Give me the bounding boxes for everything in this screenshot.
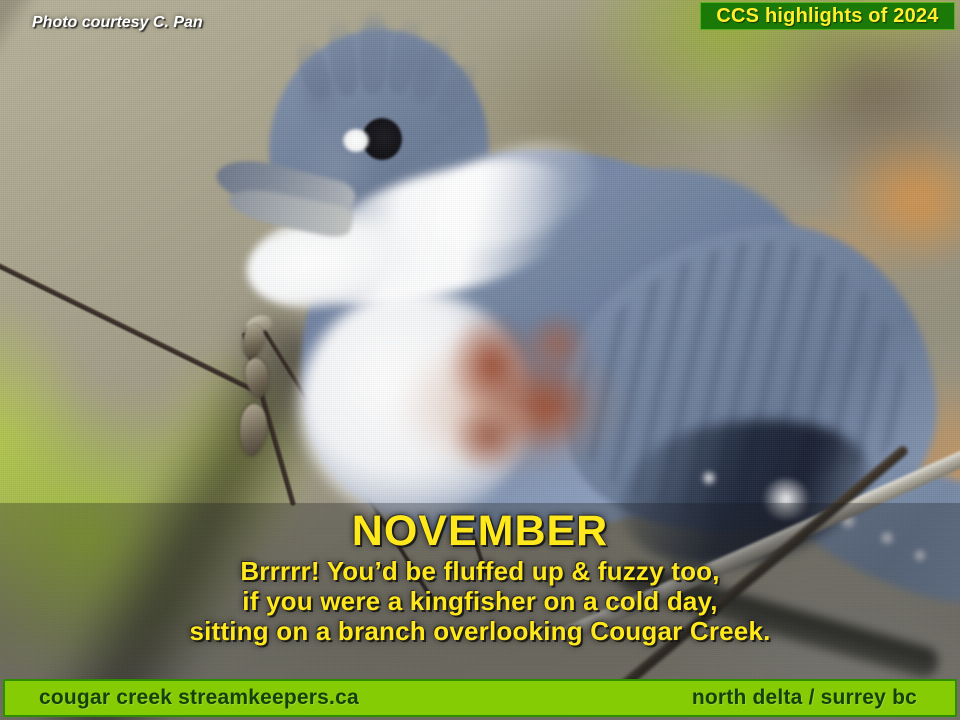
month-title: NOVEMBER [0, 506, 960, 556]
footer-website-label[interactable]: cougar creek streamkeepers.ca [39, 686, 359, 710]
caption-line-1: Brrrrr! You’d be fluffed up & fuzzy too, [0, 556, 960, 586]
caption-block: NOVEMBER Brrrrr! You’d be fluffed up & f… [0, 506, 960, 646]
highlights-banner: CCS highlights of 2024 [700, 2, 955, 30]
bird-wing-spot [700, 470, 718, 486]
footer-location-label: north delta / surrey bc [692, 686, 917, 710]
highlights-banner-label: CCS highlights of 2024 [716, 5, 938, 28]
photo-credit: Photo courtesy C. Pan [32, 14, 203, 32]
bird-eye-loral-spot [343, 129, 369, 152]
caption-line-2: if you were a kingfisher on a cold day, [0, 586, 960, 616]
caption-line-3: sitting on a branch overlooking Cougar C… [0, 616, 960, 646]
footer-bar: cougar creek streamkeepers.ca north delt… [3, 679, 957, 717]
poster-canvas: Photo courtesy C. Pan CCS highlights of … [0, 0, 960, 720]
